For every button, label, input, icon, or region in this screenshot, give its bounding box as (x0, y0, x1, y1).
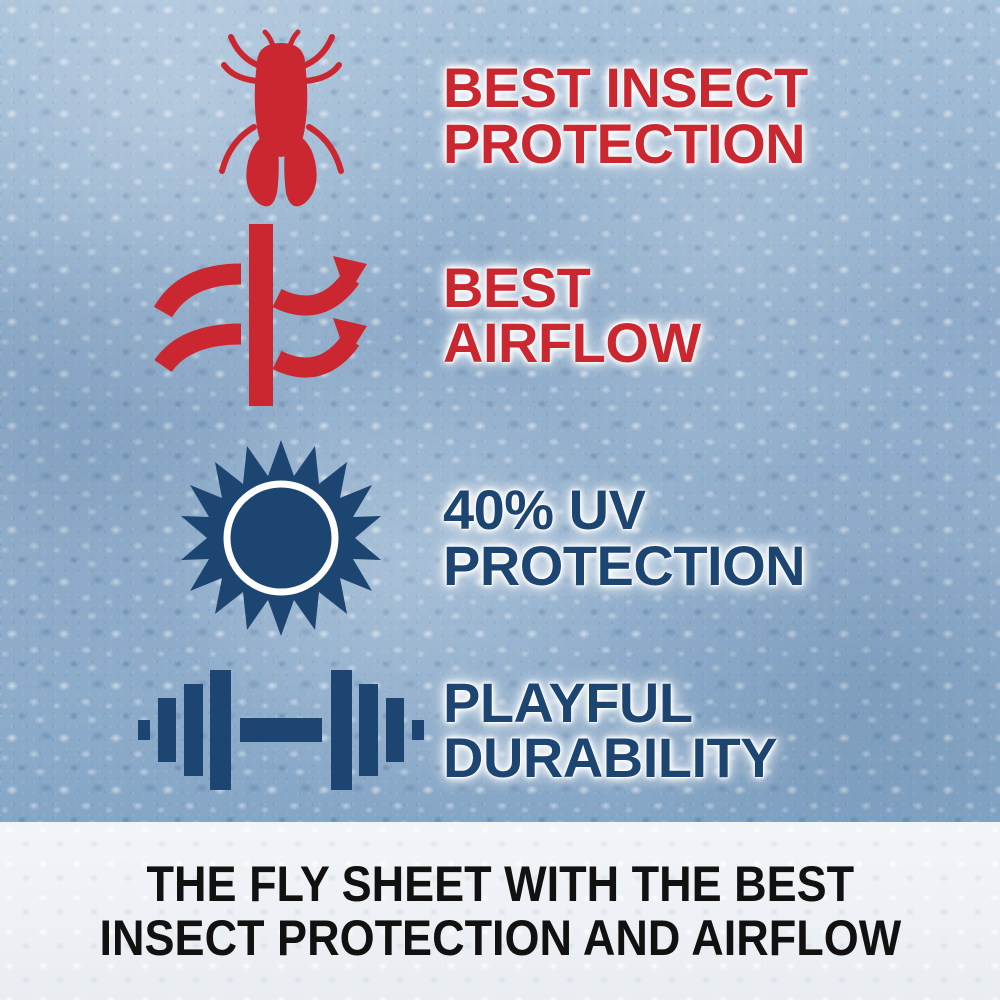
fly-icon (206, 23, 356, 208)
icon-cell-durability (118, 660, 443, 800)
text-cell-airflow: BEST AIRFLOW (443, 260, 948, 371)
caption-bar: THE FLY SHEET WITH THE BEST INSECT PROTE… (0, 822, 1000, 1000)
text-cell-uv-protection: 40% UV PROTECTION (443, 482, 948, 593)
feature-label-durability: PLAYFUL DURABILITY (443, 675, 948, 786)
feature-row-durability: PLAYFUL DURABILITY (118, 645, 948, 815)
feature-row-airflow: BEST AIRFLOW (118, 215, 948, 415)
sun-icon (181, 438, 381, 638)
text-cell-durability: PLAYFUL DURABILITY (443, 675, 948, 786)
icon-cell-uv-protection (118, 438, 443, 638)
feature-row-insect-protection: BEST INSECT PROTECTION (118, 18, 948, 213)
feature-label-airflow: BEST AIRFLOW (443, 260, 948, 371)
text-cell-insect-protection: BEST INSECT PROTECTION (443, 60, 948, 171)
icon-cell-airflow (118, 220, 443, 410)
product-feature-infographic: BEST INSECT PROTECTION (0, 0, 1000, 1000)
feature-label-uv-protection: 40% UV PROTECTION (443, 482, 948, 593)
caption-text: THE FLY SHEET WITH THE BEST INSECT PROTE… (99, 857, 901, 965)
dumbbell-icon (136, 660, 426, 800)
feature-list: BEST INSECT PROTECTION (0, 0, 1000, 822)
feature-row-uv-protection: 40% UV PROTECTION (118, 430, 948, 645)
feature-label-insect-protection: BEST INSECT PROTECTION (443, 60, 948, 171)
icon-cell-insect-protection (118, 23, 443, 208)
airflow-arrows-icon (151, 220, 411, 410)
